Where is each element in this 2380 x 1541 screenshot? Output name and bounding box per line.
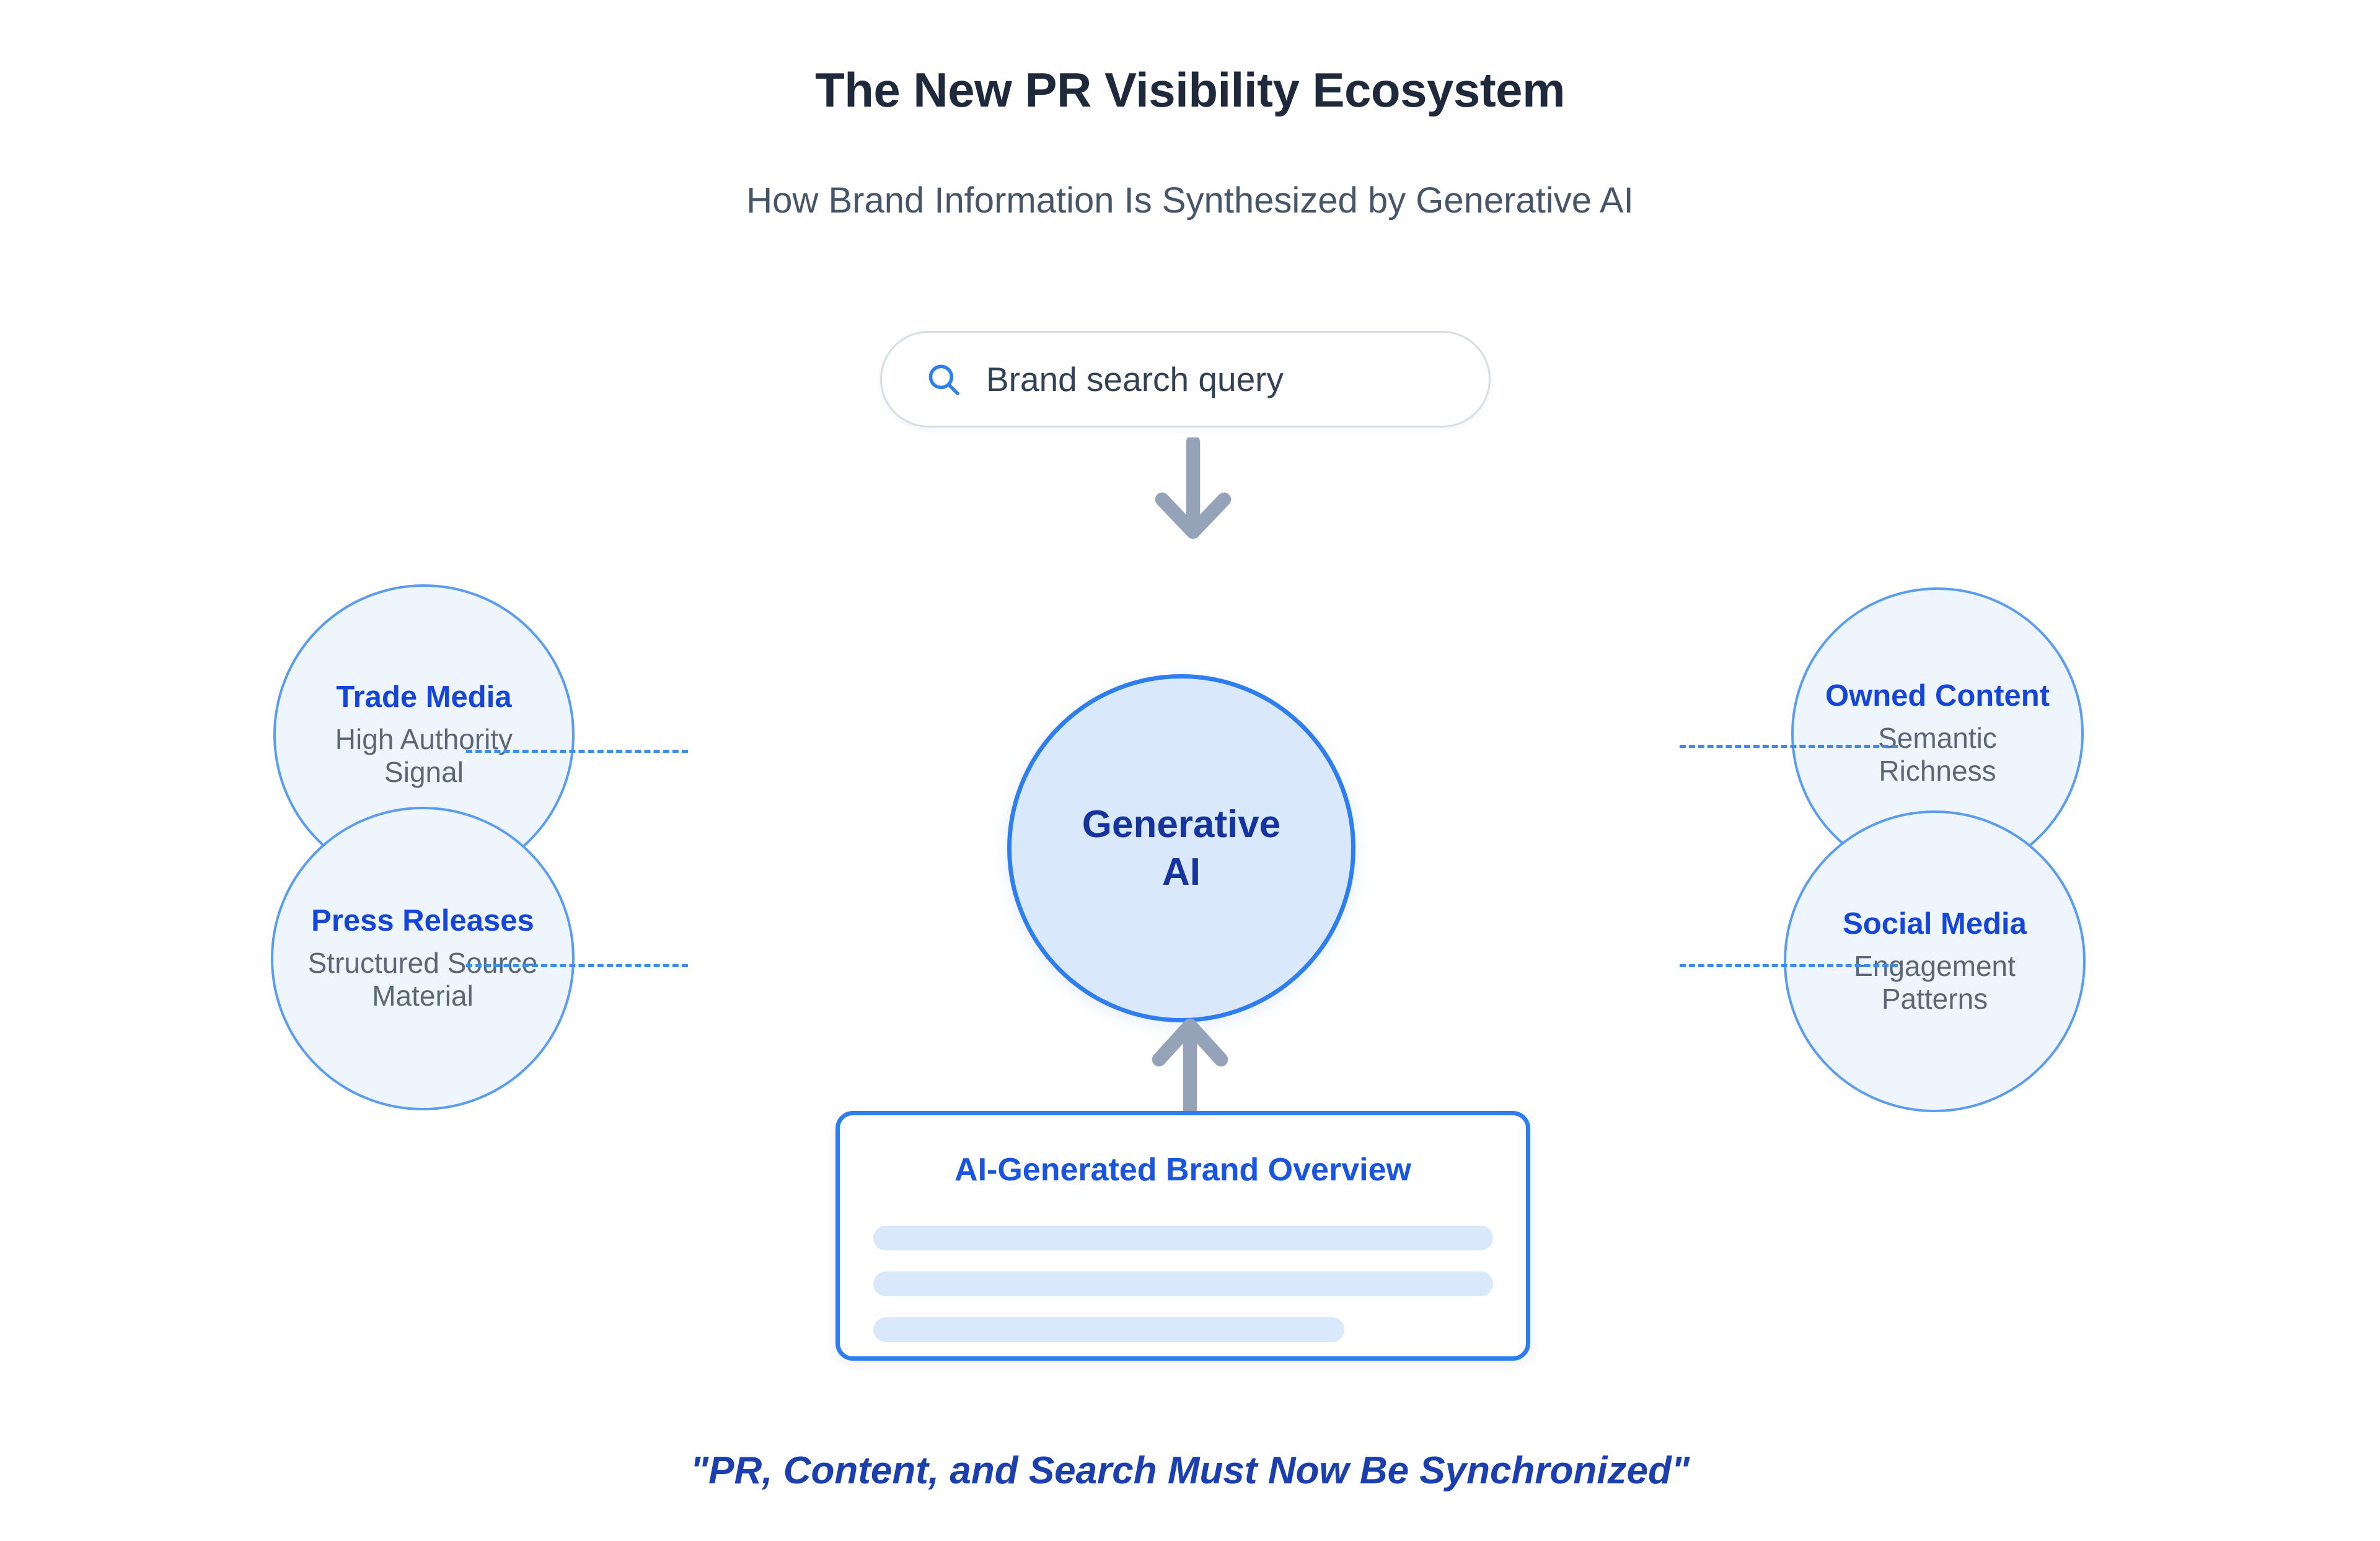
source-description: High Authority Signal [335,723,513,789]
tagline: "PR, Content, and Search Must Now Be Syn… [0,1449,2380,1493]
source-description: Structured Source Material [308,947,538,1013]
skeleton-bar [873,1317,1344,1342]
skeleton-bar [873,1226,1493,1250]
hub-label-line2: AI [1162,851,1201,893]
source-title: Press Releases [311,904,534,938]
search-query-text: Brand search query [986,359,1284,399]
source-title: Trade Media [336,680,511,714]
page-subtitle: How Brand Information Is Synthesized by … [0,180,2380,221]
source-circle-social-media[interactable]: Social Media Engagement Patterns [1784,810,2086,1112]
card-title: AI-Generated Brand Overview [954,1151,1411,1188]
source-desc-line2: Patterns [1882,983,1988,1015]
skeleton-bar [873,1271,1493,1296]
connector-owned-content [1680,745,1898,748]
source-title: Social Media [1843,907,2027,941]
source-desc-line1: Semantic Richness [1878,722,1997,787]
search-icon [925,361,961,397]
skeleton-rows [873,1226,1493,1342]
brand-search-bar[interactable]: Brand search query [880,331,1491,428]
hub-label: Generative AI [1082,801,1281,897]
connector-social-media [1680,964,1898,967]
source-desc-line2: Material [372,980,474,1012]
connector-press-releases [466,964,688,967]
source-title: Owned Content [1825,679,2050,713]
hub-circle-generative-ai[interactable]: Generative AI [1007,674,1355,1022]
diagram-canvas: The New PR Visibility Ecosystem How Bran… [0,0,2380,1541]
ai-generated-brand-overview-card[interactable]: AI-Generated Brand Overview [835,1111,1530,1361]
arrow-up-icon [1144,1016,1236,1122]
source-desc-line2: Signal [384,756,464,788]
source-desc-line1: Structured Source [308,947,538,979]
source-circle-press-releases[interactable]: Press Releases Structured Source Materia… [271,807,575,1110]
source-description: Engagement Patterns [1854,950,2016,1016]
arrow-down-icon [1147,437,1240,543]
source-description: Semantic Richness [1817,722,2058,788]
connector-trade-media [466,750,688,753]
hub-label-line1: Generative [1082,803,1281,846]
page-title: The New PR Visibility Ecosystem [0,62,2380,118]
